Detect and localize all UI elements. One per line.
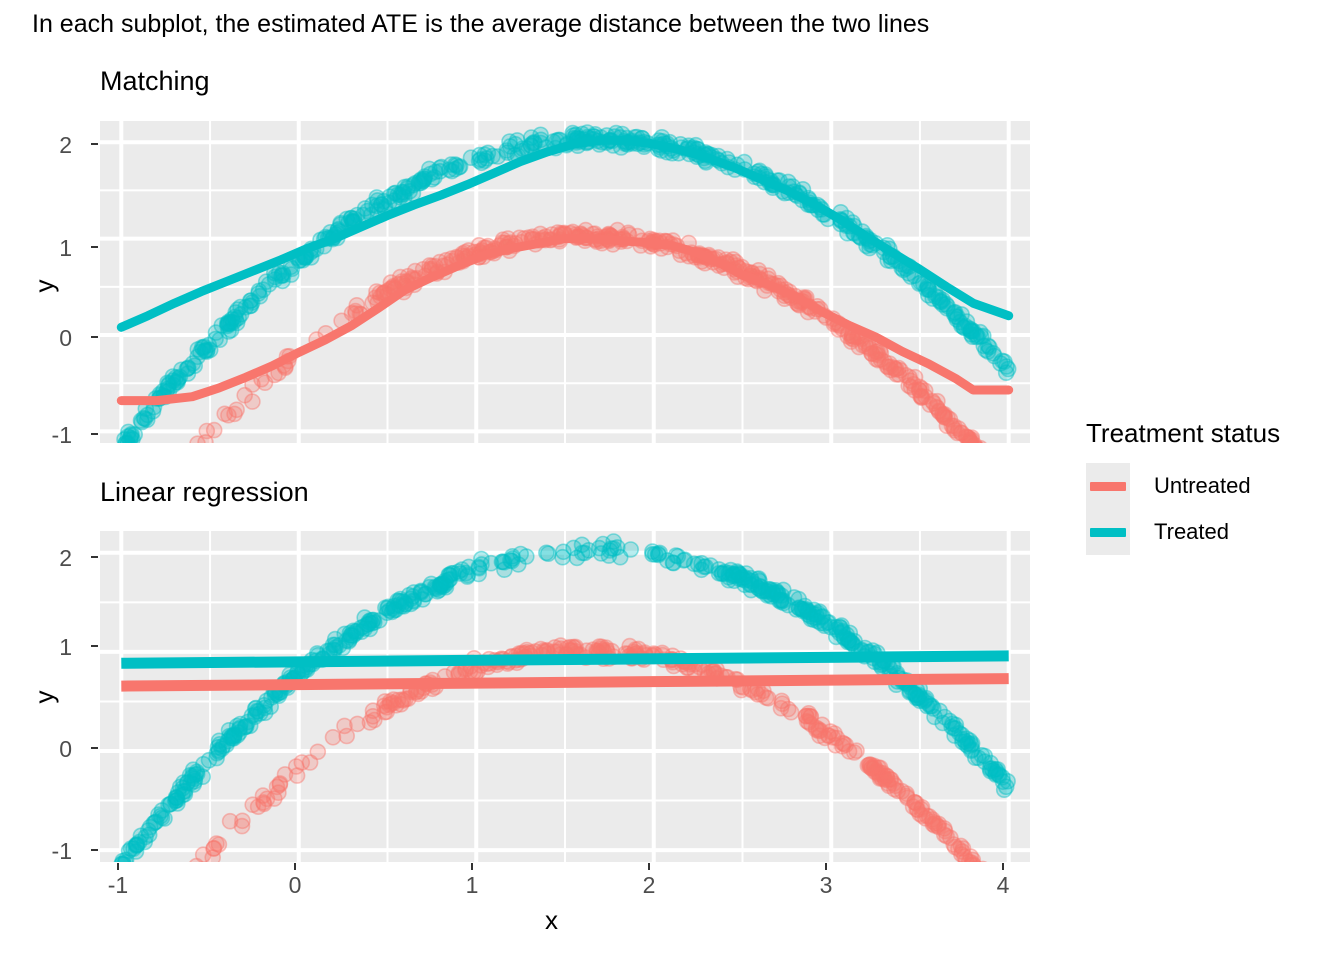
legend-key-treated <box>1086 509 1130 555</box>
legend-label-untreated: Untreated <box>1154 473 1251 499</box>
legend-title: Treatment status <box>1086 418 1280 449</box>
regression-line-treated <box>121 656 1008 663</box>
legend: Treatment status Untreated Treated <box>1086 418 1280 555</box>
legend-key-untreated <box>1086 463 1130 509</box>
line-swatch-icon <box>1090 482 1126 491</box>
legend-item-untreated[interactable]: Untreated <box>1086 463 1280 509</box>
chart-root: In each subplot, the estimated ATE is th… <box>0 0 1344 960</box>
legend-label-treated: Treated <box>1154 519 1229 545</box>
gridlines-linear-regression <box>100 531 1030 862</box>
regression-line-untreated <box>121 679 1008 686</box>
line-swatch-icon <box>1090 528 1126 537</box>
legend-item-treated[interactable]: Treated <box>1086 509 1280 555</box>
legend-items: Untreated Treated <box>1086 463 1280 555</box>
